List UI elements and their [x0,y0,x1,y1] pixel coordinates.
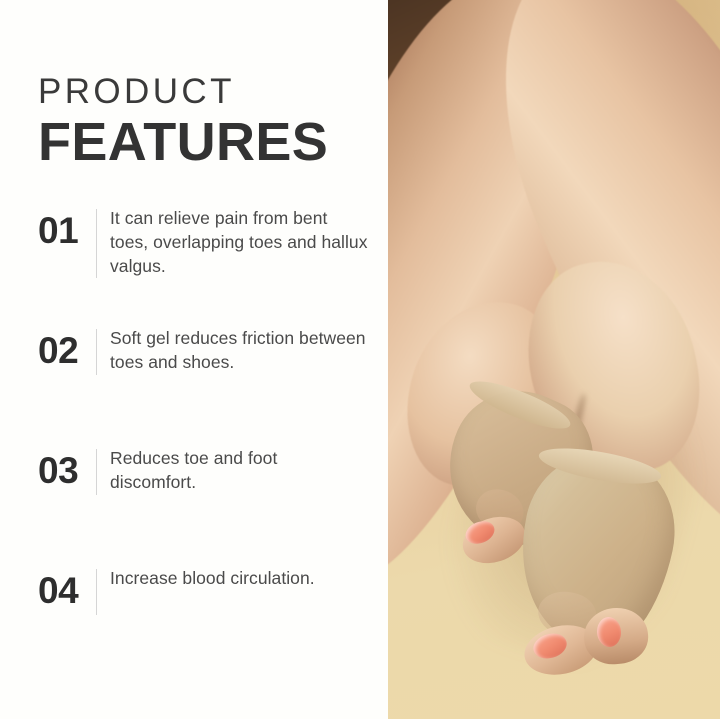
feature-divider [96,569,97,615]
feature-divider [96,209,97,278]
product-features-poster: PRODUCT FEATURES 01 It can relieve pain … [0,0,720,719]
photo-stage [388,0,720,719]
feature-text: Reduces toe and foot discomfort. [110,445,368,495]
feature-text: Increase blood circulation. [110,565,368,591]
feature-text: It can relieve pain from bent toes, over… [110,205,368,278]
product-photo [388,0,720,719]
title-line-features: FEATURES [38,115,328,169]
title-line-product: PRODUCT [38,74,328,109]
feature-text: Soft gel reduces friction between toes a… [110,325,368,375]
text-panel: PRODUCT FEATURES 01 It can relieve pain … [0,0,388,719]
feature-divider [96,329,97,375]
page-title: PRODUCT FEATURES [38,74,328,169]
feature-item: 01 It can relieve pain from bent toes, o… [38,205,368,278]
feature-number: 02 [38,325,96,369]
feature-number: 01 [38,205,96,249]
feature-item: 03 Reduces toe and foot discomfort. [38,445,368,495]
feature-item: 02 Soft gel reduces friction between toe… [38,325,368,375]
feature-item: 04 Increase blood circulation. [38,565,368,615]
feature-number: 04 [38,565,96,609]
feature-divider [96,449,97,495]
feature-number: 03 [38,445,96,489]
